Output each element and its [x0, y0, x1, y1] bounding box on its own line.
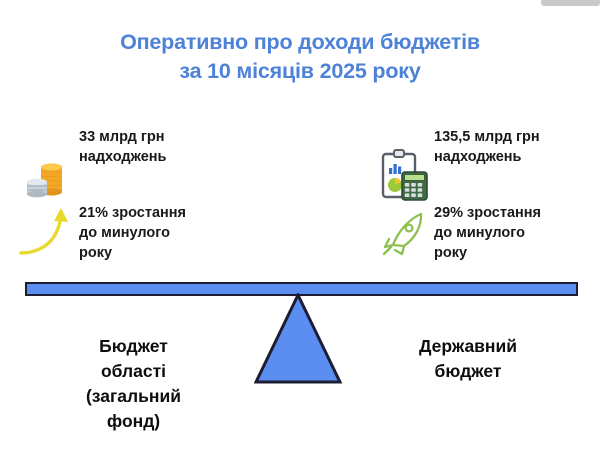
- left-growth-line-2: до минулого: [79, 223, 186, 243]
- left-amount-line-1: 33 млрд грн: [79, 127, 166, 147]
- scrollbar-remnant[interactable]: [541, 0, 600, 6]
- right-amount-line-1: 135,5 млрд грн: [434, 127, 540, 147]
- right-amount-text: 135,5 млрд грн надходжень: [434, 127, 540, 167]
- right-budget-label: Державний бюджет: [358, 334, 578, 384]
- infographic-page: { "title": { "line1": "Оперативно про до…: [0, 0, 600, 463]
- page-title-line-1: Оперативно про доходи бюджетів: [0, 28, 600, 57]
- left-budget-label-line-1: Бюджет: [26, 334, 241, 359]
- right-growth-line-1: 29% зростання: [434, 203, 541, 223]
- left-amount-text: 33 млрд грн надходжень: [79, 127, 166, 167]
- clipboard-calculator-icon: [381, 148, 429, 202]
- right-growth-line-2: до минулого: [434, 223, 541, 243]
- left-amount-line-2: надходжень: [79, 147, 166, 167]
- left-growth-line-3: року: [79, 243, 186, 263]
- right-amount-line-2: надходжень: [434, 147, 540, 167]
- right-budget-label-line-1: Державний: [358, 334, 578, 359]
- rocket-icon: [378, 206, 430, 260]
- left-growth-line-1: 21% зростання: [79, 203, 186, 223]
- left-budget-label-line-2: області: [26, 359, 241, 384]
- left-budget-label-line-4: фонд): [26, 409, 241, 434]
- left-growth-text: 21% зростання до минулого року: [79, 203, 186, 263]
- left-budget-label: Бюджет області (загальний фонд): [26, 334, 241, 434]
- triangle-fulcrum: [254, 293, 342, 385]
- coins-stack-icon: [26, 160, 64, 202]
- right-budget-label-line-2: бюджет: [358, 359, 578, 384]
- page-title: Оперативно про доходи бюджетів за 10 міс…: [0, 28, 600, 86]
- left-budget-label-line-3: (загальний: [26, 384, 241, 409]
- page-title-line-2: за 10 місяців 2025 року: [0, 57, 600, 86]
- right-growth-text: 29% зростання до минулого року: [434, 203, 541, 263]
- curved-up-arrow-icon: [18, 203, 78, 261]
- right-growth-line-3: року: [434, 243, 541, 263]
